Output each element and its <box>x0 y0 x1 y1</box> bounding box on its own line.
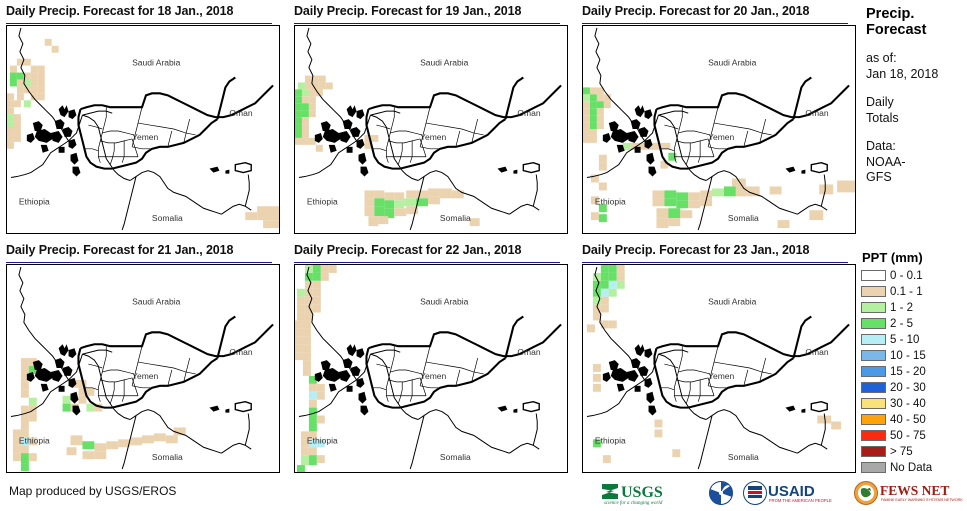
legend-item[interactable]: > 75 <box>861 444 967 459</box>
label-saudi-arabia: Saudi Arabia <box>132 297 181 307</box>
label-somalia: Somalia <box>152 452 183 462</box>
map-credit: Map produced by USGS/EROS <box>9 484 176 498</box>
as-of-label: as of: <box>866 51 967 67</box>
legend-swatch <box>861 382 886 393</box>
svg-text:science for a changing world: science for a changing world <box>604 501 663 506</box>
legend-item[interactable]: 0.1 - 1 <box>861 284 967 299</box>
svg-text:FROM THE AMERICAN PEOPLE: FROM THE AMERICAN PEOPLE <box>769 498 832 503</box>
svg-text:FEWS NET: FEWS NET <box>880 483 949 498</box>
map-frame[interactable]: Saudi Arabia Oman Yemen Ethiopia Somalia <box>294 264 568 473</box>
national-borders <box>654 78 849 169</box>
agency-logos: USGS science for a changing world USAID … <box>600 479 965 507</box>
precip-forecast-map-page: Daily Precip. Forecast for 18 Jan., 2018 <box>0 0 967 511</box>
label-yemen: Yemen <box>132 132 158 142</box>
label-ethiopia: Ethiopia <box>307 196 338 206</box>
national-borders <box>366 317 561 408</box>
label-yemen: Yemen <box>132 371 158 381</box>
socotra-islands <box>786 163 828 174</box>
legend-item[interactable]: 2 - 5 <box>861 316 967 331</box>
label-saudi-arabia: Saudi Arabia <box>420 58 469 68</box>
forecast-panel-23-jan[interactable]: Daily Precip. Forecast for 23 Jan., 2018 <box>582 243 856 473</box>
label-oman: Oman <box>229 108 252 118</box>
legend-swatch <box>861 446 886 457</box>
panel-title-underline <box>582 23 848 24</box>
totals-line1: Daily <box>866 95 967 111</box>
legend-item[interactable]: 40 - 50 <box>861 412 967 427</box>
forecast-panel-18-jan[interactable]: Daily Precip. Forecast for 18 Jan., 2018 <box>6 4 280 234</box>
data-source-line1: NOAA- <box>866 155 967 171</box>
national-borders <box>366 78 561 169</box>
info-title-line1: Precip. <box>866 6 967 22</box>
label-somalia: Somalia <box>440 452 471 462</box>
usgs-logo[interactable]: USGS science for a changing world <box>600 480 700 506</box>
label-somalia: Somalia <box>440 213 471 223</box>
highland-terrain-mask <box>603 344 657 415</box>
legend-item[interactable]: 30 - 40 <box>861 396 967 411</box>
highland-terrain-mask <box>27 105 81 176</box>
map-frame[interactable]: Saudi Arabia Oman Yemen Ethiopia Somalia <box>582 25 856 234</box>
panel-title-underline <box>294 23 560 24</box>
legend-item[interactable]: 1 - 2 <box>861 300 967 315</box>
legend-swatch <box>861 430 886 441</box>
label-somalia: Somalia <box>728 213 759 223</box>
label-somalia: Somalia <box>152 213 183 223</box>
label-oman: Oman <box>805 347 828 357</box>
legend-item[interactable]: No Data <box>861 460 967 475</box>
label-oman: Oman <box>517 347 540 357</box>
label-ethiopia: Ethiopia <box>595 196 626 206</box>
panel-title: Daily Precip. Forecast for 22 Jan., 2018 <box>294 243 521 257</box>
national-borders <box>78 78 273 169</box>
map-frame[interactable]: Saudi Arabia Oman Yemen Ethiopia Somalia <box>582 264 856 473</box>
legend-swatch <box>861 414 886 425</box>
legend-swatch <box>861 302 886 313</box>
as-of-date: Jan 18, 2018 <box>866 67 967 83</box>
panel-title-underline <box>294 262 560 263</box>
forecast-panel-20-jan[interactable]: Daily Precip. Forecast for 20 Jan., 2018 <box>582 4 856 234</box>
socotra-islands <box>498 402 540 413</box>
forecast-panel-21-jan[interactable]: Daily Precip. Forecast for 21 Jan., 2018 <box>6 243 280 473</box>
socotra-islands <box>210 402 252 413</box>
data-source-line2: GFS <box>866 170 967 186</box>
panel-title-underline <box>6 23 272 24</box>
socotra-islands <box>210 163 252 174</box>
label-somalia: Somalia <box>728 452 759 462</box>
as-of-block: as of: Jan 18, 2018 <box>866 51 967 82</box>
map-canvas: Saudi Arabia Oman Yemen Ethiopia Somalia <box>7 265 279 472</box>
legend-label: 30 - 40 <box>890 398 926 410</box>
legend-label: 5 - 10 <box>890 334 919 346</box>
legend-swatch <box>861 270 886 281</box>
label-saudi-arabia: Saudi Arabia <box>420 297 469 307</box>
legend-label: 0.1 - 1 <box>890 286 923 298</box>
legend-swatch <box>861 398 886 409</box>
precip-legend: PPT (mm) 0 - 0.10.1 - 11 - 22 - 55 - 101… <box>861 250 967 476</box>
legend-label: 40 - 50 <box>890 414 926 426</box>
map-canvas: Saudi Arabia Oman Yemen Ethiopia Somalia <box>583 26 855 233</box>
legend-label: No Data <box>890 462 932 474</box>
panel-title-underline <box>6 262 272 263</box>
socotra-islands <box>498 163 540 174</box>
map-canvas: Saudi Arabia Oman Yemen Ethiopia Somalia <box>583 265 855 472</box>
national-borders <box>78 317 273 408</box>
label-yemen: Yemen <box>420 371 446 381</box>
socotra-islands <box>786 402 828 413</box>
info-panel: Precip. Forecast as of: Jan 18, 2018 Dai… <box>866 6 967 186</box>
legend-swatch <box>861 350 886 361</box>
fewsnet-logo[interactable]: FEWS NET FAMINE EARLY WARNING SYSTEMS NE… <box>853 480 965 506</box>
panel-title: Daily Precip. Forecast for 18 Jan., 2018 <box>6 4 233 18</box>
legend-label: 10 - 15 <box>890 350 926 362</box>
legend-swatch <box>861 318 886 329</box>
legend-item[interactable]: 50 - 75 <box>861 428 967 443</box>
legend-rows: 0 - 0.10.1 - 11 - 22 - 55 - 1010 - 1515 … <box>861 268 967 475</box>
legend-item[interactable]: 0 - 0.1 <box>861 268 967 283</box>
svg-text:FAMINE EARLY WARNING SYSTEMS N: FAMINE EARLY WARNING SYSTEMS NETWORK <box>881 498 963 502</box>
legend-swatch <box>861 462 886 473</box>
panel-title: Daily Precip. Forecast for 20 Jan., 2018 <box>582 4 809 18</box>
label-ethiopia: Ethiopia <box>19 196 50 206</box>
highland-terrain-mask <box>315 105 369 176</box>
legend-item[interactable]: 10 - 15 <box>861 348 967 363</box>
panel-title-underline <box>582 262 848 263</box>
legend-item[interactable]: 20 - 30 <box>861 380 967 395</box>
label-yemen: Yemen <box>708 371 734 381</box>
highland-terrain-mask <box>603 105 657 176</box>
legend-swatch <box>861 286 886 297</box>
legend-item[interactable]: 5 - 10 <box>861 332 967 347</box>
legend-label: 0 - 0.1 <box>890 270 923 282</box>
panel-title: Daily Precip. Forecast for 21 Jan., 2018 <box>6 243 233 257</box>
national-borders <box>654 317 849 408</box>
label-oman: Oman <box>517 108 540 118</box>
label-ethiopia: Ethiopia <box>19 435 50 445</box>
data-label: Data: <box>866 139 967 155</box>
legend-label: 20 - 30 <box>890 382 926 394</box>
legend-label: 2 - 5 <box>890 318 913 330</box>
panel-title: Daily Precip. Forecast for 23 Jan., 2018 <box>582 243 809 257</box>
map-canvas: Saudi Arabia Oman Yemen Ethiopia Somalia <box>295 26 567 233</box>
label-yemen: Yemen <box>420 132 446 142</box>
label-oman: Oman <box>229 347 252 357</box>
label-saudi-arabia: Saudi Arabia <box>708 297 757 307</box>
label-yemen: Yemen <box>708 132 734 142</box>
label-ethiopia: Ethiopia <box>595 435 626 445</box>
info-title-line2: Forecast <box>866 22 967 38</box>
label-saudi-arabia: Saudi Arabia <box>708 58 757 68</box>
legend-label: 50 - 75 <box>890 430 926 442</box>
usaid-logo[interactable]: USAID FROM THE AMERICAN PEOPLE <box>742 480 846 506</box>
label-saudi-arabia: Saudi Arabia <box>132 58 181 68</box>
legend-item[interactable]: 15 - 20 <box>861 364 967 379</box>
highland-terrain-mask <box>315 344 369 415</box>
forecast-panel-19-jan[interactable]: Daily Precip. Forecast for 19 Jan., 2018 <box>294 4 568 234</box>
label-oman: Oman <box>805 108 828 118</box>
legend-label: > 75 <box>890 446 913 458</box>
label-ethiopia: Ethiopia <box>307 435 338 445</box>
info-title: Precip. Forecast <box>866 6 967 38</box>
legend-swatch <box>861 334 886 345</box>
totals-line2: Totals <box>866 111 967 127</box>
data-source-block: Data: NOAA- GFS <box>866 139 967 186</box>
legend-swatch <box>861 366 886 377</box>
map-canvas: Saudi Arabia Oman Yemen Ethiopia Somalia <box>295 265 567 472</box>
legend-label: 15 - 20 <box>890 366 926 378</box>
map-frame[interactable]: Saudi Arabia Oman Yemen Ethiopia Somalia <box>294 25 568 234</box>
noaa-logo[interactable] <box>707 480 735 506</box>
map-canvas: Saudi Arabia Oman Yemen Ethiopia Somalia <box>7 26 279 233</box>
svg-text:USGS: USGS <box>621 484 663 501</box>
forecast-panel-22-jan[interactable]: Daily Precip. Forecast for 22 Jan., 2018 <box>294 243 568 473</box>
panel-title: Daily Precip. Forecast for 19 Jan., 2018 <box>294 4 521 18</box>
precip-raster <box>587 265 841 463</box>
totals-block: Daily Totals <box>866 95 967 126</box>
map-frame[interactable]: Saudi Arabia Oman Yemen Ethiopia Somalia <box>6 25 280 234</box>
legend-label: 1 - 2 <box>890 302 913 314</box>
legend-title: PPT (mm) <box>862 250 967 265</box>
map-frame[interactable]: Saudi Arabia Oman Yemen Ethiopia Somalia <box>6 264 280 473</box>
